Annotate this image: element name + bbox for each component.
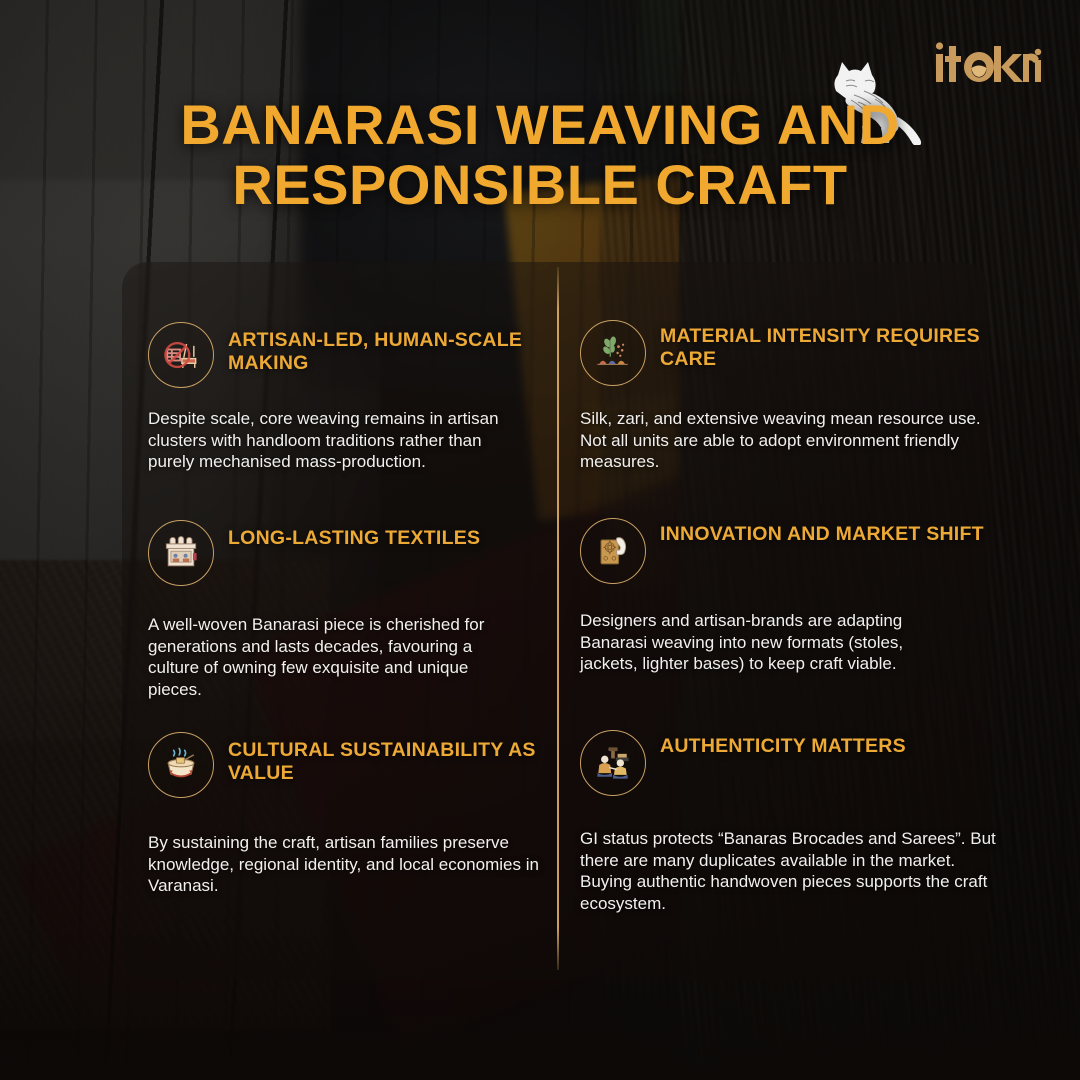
card-body: By sustaining the craft, artisan familie… [148, 832, 548, 897]
card-body: GI status protects “Banaras Brocades and… [580, 828, 998, 914]
two-artisans-weaving-icon [580, 730, 646, 796]
natural-dye-leaves-icon [580, 320, 646, 386]
card-title: INNOVATION AND MARKET SHIFT [660, 518, 984, 546]
card-header: INNOVATION AND MARKET SHIFT [580, 518, 998, 584]
card-body: A well-woven Banarasi piece is cherished… [148, 614, 500, 700]
card-header: CULTURAL SUSTAINABILITY AS VALUE [148, 732, 546, 798]
card-innovation-market-shift[interactable]: INNOVATION AND MARKET SHIFT Designers an… [580, 518, 998, 675]
hand-holding-fabric-icon [580, 518, 646, 584]
card-artisan-led[interactable]: ARTISAN-LED, HUMAN-SCALE MAKING Despite … [148, 322, 546, 473]
card-header: AUTHENTICITY MATTERS [580, 730, 998, 796]
card-authenticity-matters[interactable]: AUTHENTICITY MATTERS GI status protects … [580, 730, 998, 914]
card-header: LONG-LASTING TEXTILES [148, 520, 546, 586]
card-body: Despite scale, core weaving remains in a… [148, 408, 530, 473]
card-header: ARTISAN-LED, HUMAN-SCALE MAKING [148, 322, 546, 388]
cards-grid: ARTISAN-LED, HUMAN-SCALE MAKING Despite … [0, 0, 1080, 1080]
card-long-lasting-textiles[interactable]: LONG-LASTING TEXTILES A well-woven Banar… [148, 520, 546, 700]
card-title: ARTISAN-LED, HUMAN-SCALE MAKING [228, 322, 546, 376]
card-title: LONG-LASTING TEXTILES [228, 520, 480, 550]
card-body: Designers and artisan-brands are adaptin… [580, 610, 952, 675]
steaming-dye-pot-icon [148, 732, 214, 798]
card-material-intensity[interactable]: MATERIAL INTENSITY REQUIRES CARE Silk, z… [580, 320, 998, 473]
card-title: CULTURAL SUSTAINABILITY AS VALUE [228, 732, 546, 786]
card-body: Silk, zari, and extensive weaving mean r… [580, 408, 992, 473]
card-title: AUTHENTICITY MATTERS [660, 730, 906, 758]
artisan-shop-icon [148, 520, 214, 586]
no-mass-production-icon [148, 322, 214, 388]
card-title: MATERIAL INTENSITY REQUIRES CARE [660, 320, 998, 372]
card-header: MATERIAL INTENSITY REQUIRES CARE [580, 320, 998, 386]
card-cultural-sustainability[interactable]: CULTURAL SUSTAINABILITY AS VALUE By sust… [148, 732, 546, 897]
